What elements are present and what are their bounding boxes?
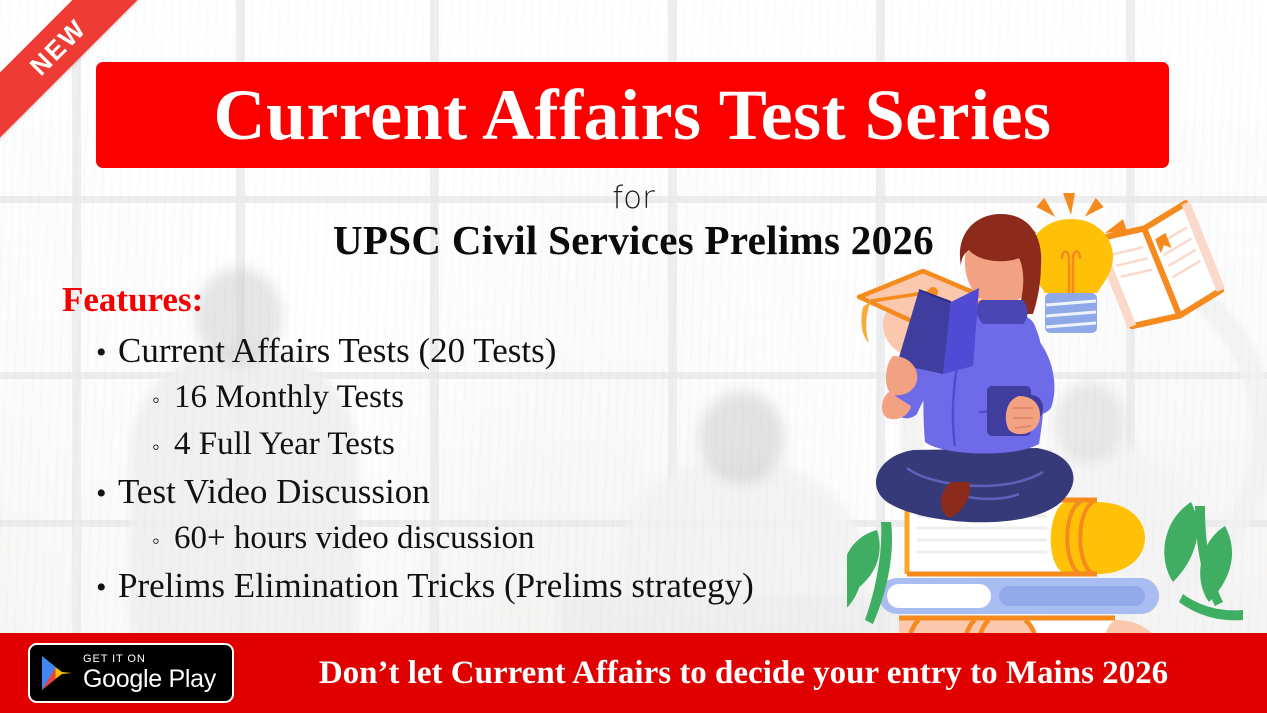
feature-item: ◦16 Monthly Tests <box>84 374 754 421</box>
google-play-triangle-icon <box>40 654 74 692</box>
disc-bullet-icon: • <box>96 573 118 603</box>
page-title: Current Affairs Test Series <box>213 79 1051 151</box>
feature-item-label: 16 Monthly Tests <box>174 374 404 421</box>
subtitle-for: for <box>0 180 1267 216</box>
disc-bullet-icon: • <box>96 338 118 368</box>
feature-item-label: Prelims Elimination Tricks (Prelims stra… <box>118 562 754 609</box>
feature-item: ◦60+ hours video discussion <box>84 515 754 562</box>
disc-bullet-icon: • <box>96 479 118 509</box>
feature-item: •Prelims Elimination Tricks (Prelims str… <box>84 562 754 609</box>
background-student-figure <box>1000 446 1200 636</box>
feature-item: ◦4 Full Year Tests <box>84 421 754 468</box>
title-bar: Current Affairs Test Series <box>96 62 1169 168</box>
features-heading: Features: <box>62 280 203 320</box>
circle-bullet-icon: ◦ <box>152 389 174 411</box>
feature-item: •Test Video Discussion <box>84 468 754 515</box>
feature-item-label: Current Affairs Tests (20 Tests) <box>118 327 556 374</box>
subtitle-exam: UPSC Civil Services Prelims 2026 <box>0 216 1267 264</box>
circle-bullet-icon: ◦ <box>152 530 174 552</box>
feature-item-label: 60+ hours video discussion <box>174 515 535 562</box>
promo-banner: NEW Current Affairs Test Series for UPSC… <box>0 0 1267 713</box>
google-play-wordmark: Google Play <box>83 666 216 693</box>
google-play-badge[interactable]: GET IT ON Google Play <box>28 643 234 703</box>
footer-bar: GET IT ON Google Play Don’t let Current … <box>0 633 1267 713</box>
background-arc-shape <box>900 246 1267 620</box>
background-student-figure <box>1055 382 1125 462</box>
feature-item-label: 4 Full Year Tests <box>174 421 395 468</box>
window-mullion <box>72 0 81 713</box>
circle-bullet-icon: ◦ <box>152 436 174 458</box>
footer-tagline: Don’t let Current Affairs to decide your… <box>234 655 1267 692</box>
feature-item: •Current Affairs Tests (20 Tests) <box>84 327 754 374</box>
feature-item-label: Test Video Discussion <box>118 468 430 515</box>
features-list: •Current Affairs Tests (20 Tests)◦16 Mon… <box>84 327 754 609</box>
